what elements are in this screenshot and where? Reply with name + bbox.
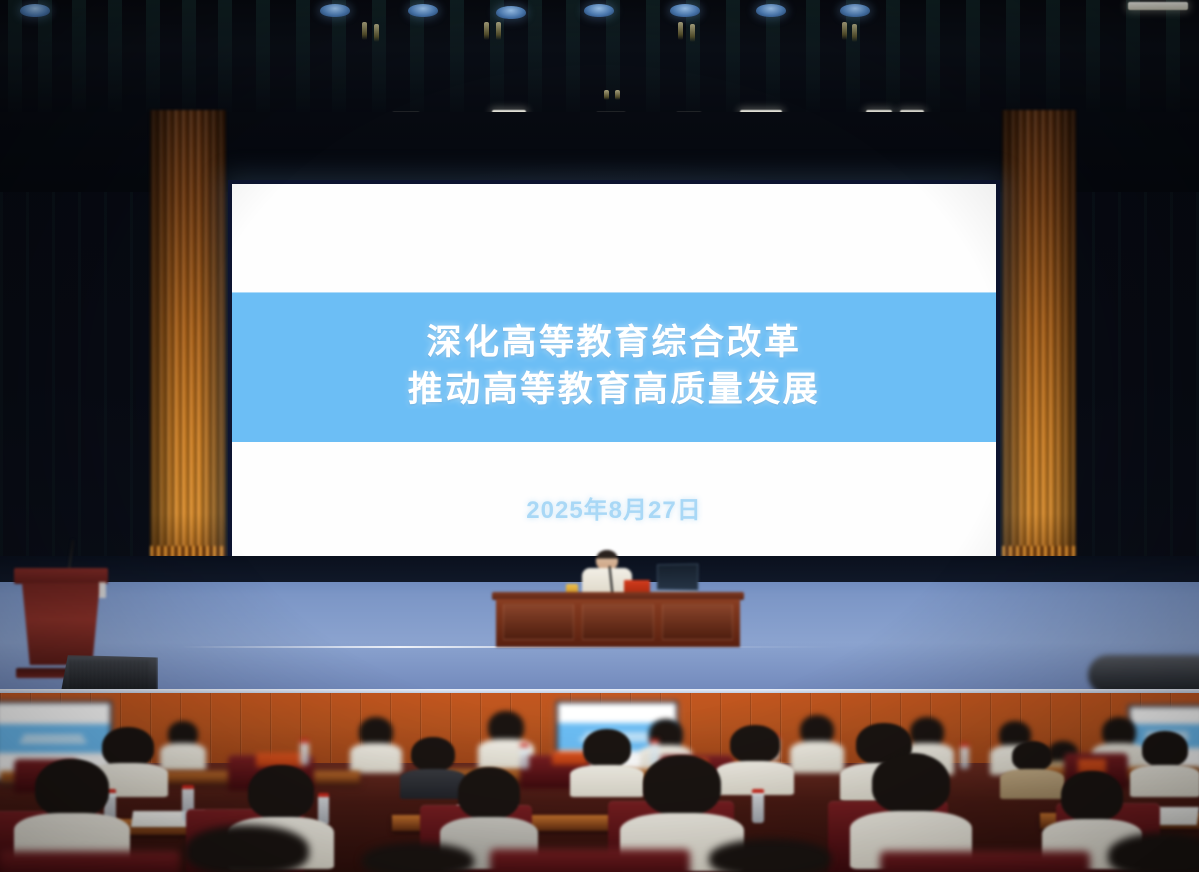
ceiling-lamp-icon: [408, 4, 438, 17]
ceiling-lamp-icon: [840, 4, 870, 17]
ceiling-lamp-icon: [496, 6, 526, 19]
slide-top-whitespace: [232, 184, 996, 292]
ceiling: [0, 0, 1199, 118]
projection-screen: 深化高等教育综合改革 推动高等教育高质量发展 2025年8月27日: [228, 180, 1000, 598]
stage-curtain-right: [1002, 110, 1076, 558]
ceiling-lamp-icon: [584, 4, 614, 17]
audience-area: [0, 693, 1199, 872]
slide-date: 2025年8月27日: [232, 490, 996, 525]
ceiling-lamp-icon: [320, 4, 350, 17]
ceiling-lamp-icon: [20, 4, 50, 17]
slide-title-band: 深化高等教育综合改革 推动高等教育高质量发展: [232, 292, 996, 442]
slide-title-line-2: 推动高等教育高质量发展: [408, 369, 821, 412]
ceiling-lamp-icon: [670, 4, 700, 17]
ceiling-lamp-icon: [756, 4, 786, 17]
stage-curtain-left: [150, 110, 226, 558]
head-table: [492, 556, 744, 646]
slide-title-line-1: 深化高等教育综合改革: [426, 322, 801, 365]
conference-hall-photo: 深化高等教育综合改革 推动高等教育高质量发展 2025年8月27日: [0, 0, 1199, 872]
